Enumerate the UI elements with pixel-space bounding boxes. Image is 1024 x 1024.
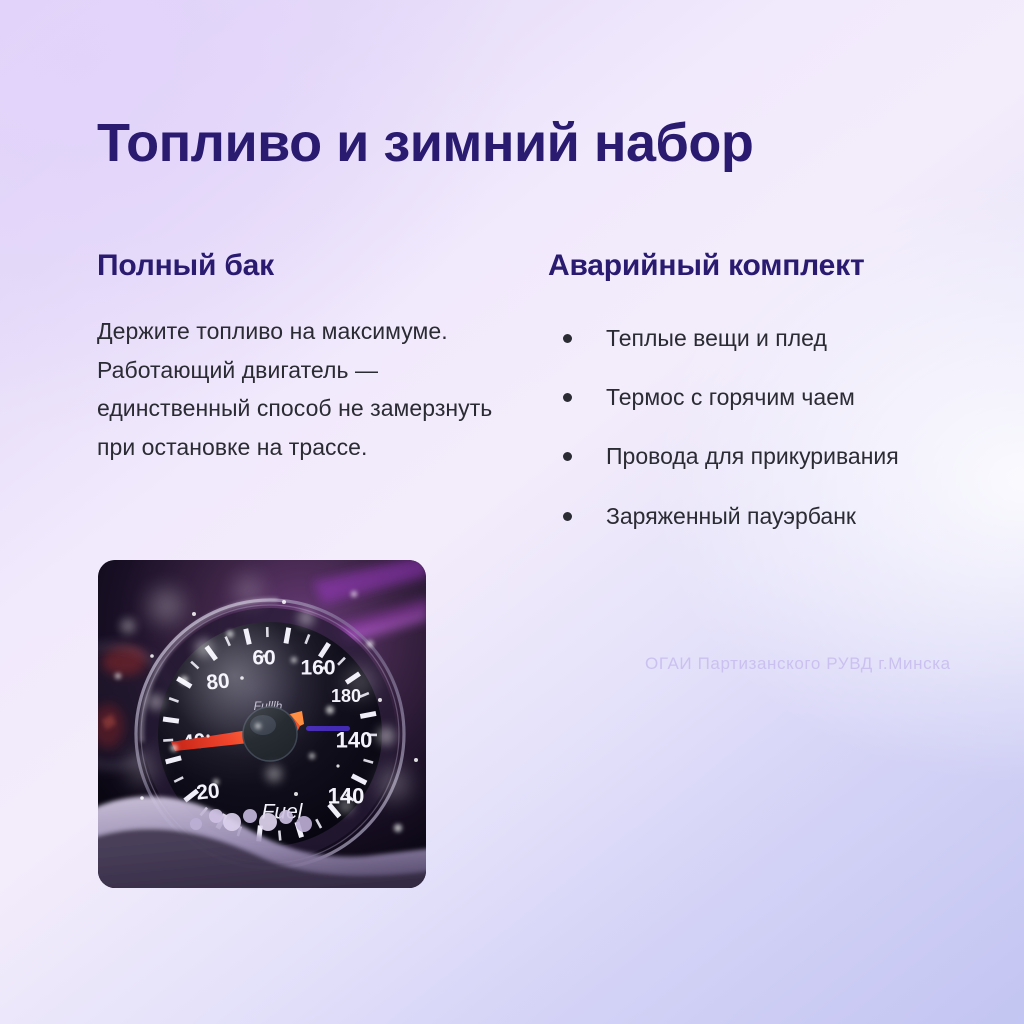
list-item-label: Заряженный пауэрбанк: [606, 498, 856, 535]
right-column: Аварийный комплект Теплые вещи и плед Те…: [548, 246, 968, 557]
list-item-label: Провода для прикуривания: [606, 438, 899, 475]
page-title: Топливо и зимний набор: [97, 113, 957, 173]
watermark-credit: ОГАИ Партизанского РУВД г.Минска: [645, 654, 951, 674]
left-column-heading: Полный бак: [97, 246, 497, 286]
bullet-dot-icon: [563, 393, 572, 402]
right-column-heading: Аварийный комплект: [548, 246, 968, 286]
left-column: Полный бак Держите топливо на максимуме.…: [97, 246, 497, 466]
fuel-gauge-photo: 20 40 80 60 160 180 140 140 Fulllh Fuel: [98, 560, 426, 888]
bullet-dot-icon: [563, 512, 572, 521]
list-item-label: Теплые вещи и плед: [606, 320, 827, 357]
list-item-label: Термос с горячим чаем: [606, 379, 855, 416]
list-item: Заряженный пауэрбанк: [548, 498, 968, 535]
list-item: Провода для прикуривания: [548, 438, 968, 475]
list-item: Термос с горячим чаем: [548, 379, 968, 416]
list-item: Теплые вещи и плед: [548, 320, 968, 357]
left-column-paragraph: Держите топливо на максимуме. Работающий…: [97, 312, 497, 467]
bullet-dot-icon: [563, 334, 572, 343]
bullet-dot-icon: [563, 452, 572, 461]
emergency-kit-list: Теплые вещи и плед Термос с горячим чаем…: [548, 320, 968, 535]
slide-canvas: Топливо и зимний набор Полный бак Держит…: [0, 0, 1024, 1024]
